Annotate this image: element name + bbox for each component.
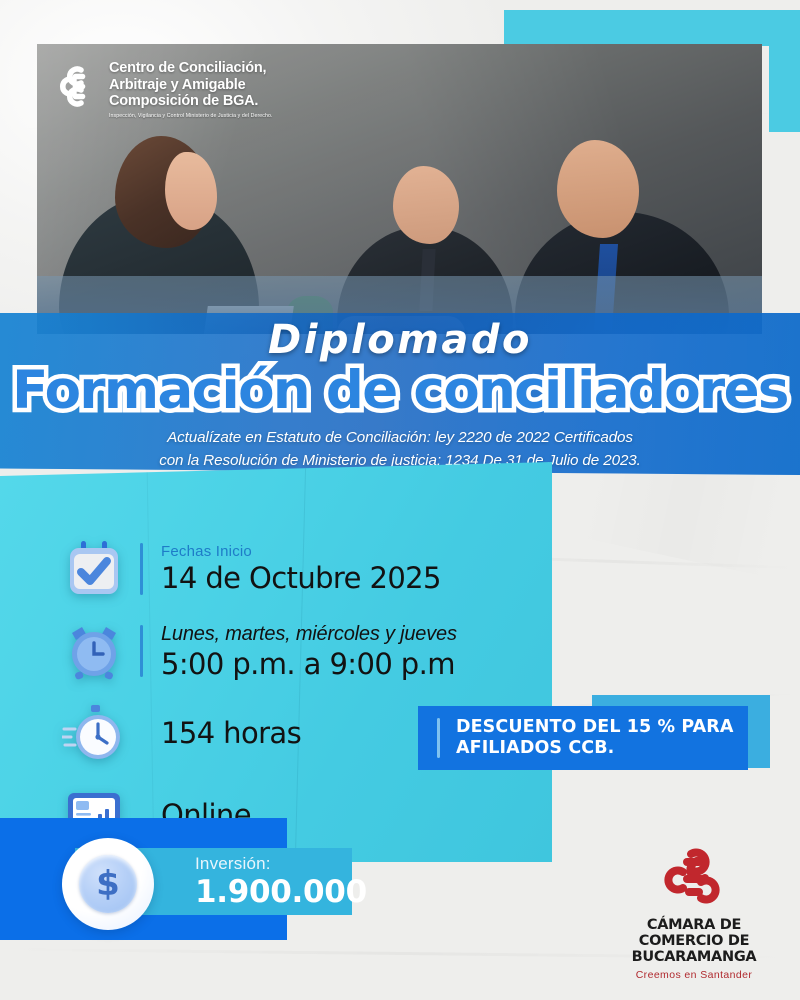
discount-line-1: DESCUENTO DEL 15 % PARA bbox=[456, 717, 734, 738]
ccb-line-3: BUCARAMANGA bbox=[618, 949, 770, 965]
kicker-text: Diplomado bbox=[0, 318, 800, 362]
discount-badge[interactable]: DESCUENTO DEL 15 % PARA AFILIADOS CCB. bbox=[418, 706, 748, 770]
detail-text: Fechas Inicio 14 de Octubre 2025 bbox=[161, 543, 532, 595]
row-divider-spacer bbox=[140, 707, 143, 759]
ccc-monogram-red-icon bbox=[661, 848, 727, 910]
ccb-line-2: COMERCIO DE bbox=[618, 933, 770, 949]
subtitle-text: Actualízate en Estatuto de Conciliación:… bbox=[0, 426, 800, 472]
corner-bracket-right bbox=[769, 10, 800, 132]
row-divider bbox=[140, 543, 143, 595]
photo-person-middle-head bbox=[393, 166, 459, 244]
investment-value: 1.900.000 bbox=[195, 874, 395, 911]
stopwatch-icon bbox=[62, 701, 126, 765]
discount-line-2: AFILIADOS CCB. bbox=[456, 738, 734, 759]
header-org-logo: Centro de Conciliación, Arbitraje y Amig… bbox=[58, 60, 272, 120]
dollar-coin-icon: $ bbox=[62, 838, 154, 930]
detail-label: Lunes, martes, miércoles y jueves bbox=[161, 621, 532, 647]
dollar-sign: $ bbox=[96, 867, 120, 901]
discount-text: DESCUENTO DEL 15 % PARA AFILIADOS CCB. bbox=[440, 717, 734, 759]
org-subtitle: Inspección, Vigilancia y Control Ministe… bbox=[109, 113, 272, 120]
ccb-logo: CÁMARA DE COMERCIO DE BUCARAMANGA Creemo… bbox=[618, 848, 770, 982]
dollar-coin-inner: $ bbox=[79, 855, 137, 913]
alarm-clock-icon bbox=[62, 619, 126, 683]
detail-value: 5:00 p.m. a 9:00 p.m bbox=[161, 647, 532, 681]
ccb-line-1: CÁMARA DE bbox=[618, 917, 770, 933]
org-line-3: Composición de BGA. bbox=[109, 93, 272, 110]
detail-text: Lunes, martes, miércoles y jueves 5:00 p… bbox=[161, 621, 532, 681]
subtitle-line-1: Actualízate en Estatuto de Conciliación:… bbox=[0, 426, 800, 449]
flyer-canvas: Centro de Conciliación, Arbitraje y Amig… bbox=[0, 0, 800, 1000]
calendar-check-icon bbox=[62, 537, 126, 601]
detail-row-start-date: Fechas Inicio 14 de Octubre 2025 bbox=[62, 528, 532, 610]
org-line-2: Arbitraje y Amigable bbox=[109, 77, 272, 94]
ccb-tagline: Creemos en Santander bbox=[618, 968, 770, 982]
details-list: Fechas Inicio 14 de Octubre 2025 Lunes bbox=[62, 528, 532, 856]
page-title: Formación de conciliadores bbox=[0, 362, 800, 420]
corner-bracket-top bbox=[504, 10, 800, 46]
investment-text: Inversión: 1.900.000 bbox=[195, 853, 395, 911]
ccc-monogram-icon bbox=[58, 60, 98, 108]
detail-row-schedule: Lunes, martes, miércoles y jueves 5:00 p… bbox=[62, 610, 532, 692]
org-line-1: Centro de Conciliación, bbox=[109, 60, 272, 77]
header-org-text: Centro de Conciliación, Arbitraje y Amig… bbox=[109, 60, 272, 120]
row-divider bbox=[140, 625, 143, 677]
detail-label: Fechas Inicio bbox=[161, 543, 532, 561]
investment-label: Inversión: bbox=[195, 853, 395, 874]
detail-value: 14 de Octubre 2025 bbox=[161, 561, 532, 595]
